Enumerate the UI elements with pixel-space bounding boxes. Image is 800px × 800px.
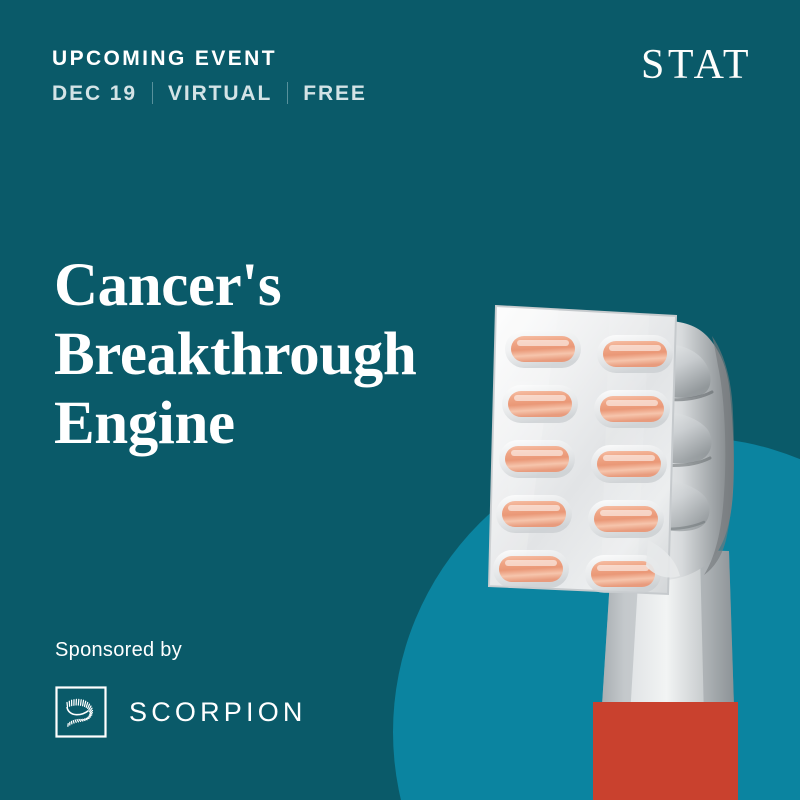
event-date: DEC 19 — [52, 83, 137, 104]
capsule — [502, 385, 578, 423]
headline-line-2: Breakthrough — [54, 321, 484, 390]
page-title: Cancer's Breakthrough Engine — [54, 252, 484, 459]
sponsored-by-label: Sponsored by — [55, 640, 307, 660]
meta-separator-icon — [287, 82, 288, 104]
sponsor-block: Sponsored by — [55, 640, 307, 738]
event-header: UPCOMING EVENT DEC 19 VIRTUAL FREE — [52, 48, 367, 104]
headline-line-1: Cancer's — [54, 252, 484, 321]
capsule — [505, 330, 581, 368]
scorpion-wordmark: SCORPION — [129, 699, 307, 726]
stat-logo: STAT — [641, 44, 752, 86]
capsule — [594, 390, 670, 428]
event-price: FREE — [303, 83, 367, 104]
meta-separator-icon — [152, 82, 153, 104]
event-format: VIRTUAL — [168, 83, 272, 104]
headline-line-3: Engine — [54, 390, 484, 459]
promo-poster: UPCOMING EVENT DEC 19 VIRTUAL FREE STAT … — [0, 0, 800, 800]
sponsor-logo: SCORPION — [55, 686, 307, 738]
scorpion-square-mark-icon — [55, 686, 107, 738]
capsule — [597, 335, 673, 373]
sleeve-shape — [593, 702, 738, 800]
event-kicker: UPCOMING EVENT — [52, 48, 367, 70]
event-meta-row: DEC 19 VIRTUAL FREE — [52, 82, 367, 104]
